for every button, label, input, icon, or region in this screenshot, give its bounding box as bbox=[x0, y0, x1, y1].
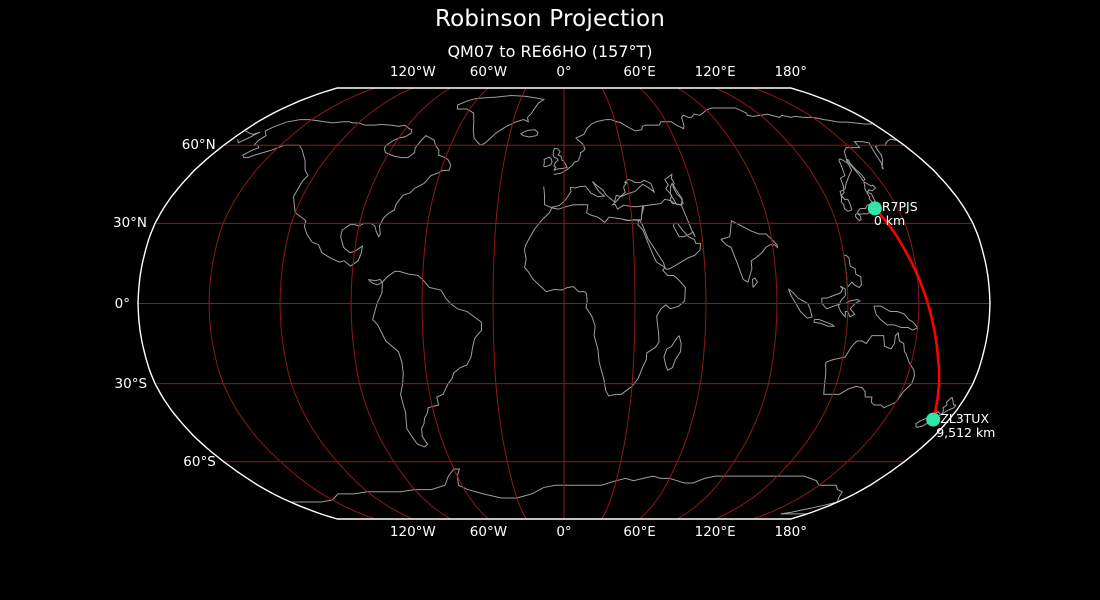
lon-tick-label: 180° bbox=[774, 524, 807, 540]
lon-tick-label: 0° bbox=[556, 524, 571, 540]
coastline-path bbox=[544, 157, 552, 166]
lon-tick-label: 120°E bbox=[695, 64, 736, 80]
station-distance: 0 km bbox=[874, 214, 918, 228]
coastline-path bbox=[874, 306, 918, 330]
coastline-path bbox=[824, 333, 915, 408]
coastline-path bbox=[721, 221, 778, 282]
coastline-path bbox=[864, 182, 876, 191]
coastline-path bbox=[814, 320, 834, 327]
coastline-path bbox=[822, 286, 860, 317]
lon-tick-label: 60°W bbox=[470, 524, 507, 540]
map-svg bbox=[0, 0, 1100, 600]
lon-tick-label: 180° bbox=[774, 64, 807, 80]
coastline-path bbox=[847, 159, 865, 180]
lat-tick-label: 30°N bbox=[0, 215, 147, 231]
coastline-path bbox=[457, 96, 543, 146]
station-distance: 9,512 km bbox=[936, 426, 995, 440]
lat-tick-label: 30°S bbox=[0, 376, 147, 392]
lon-tick-label: 120°E bbox=[695, 524, 736, 540]
lon-tick-label: 0° bbox=[556, 64, 571, 80]
lon-tick-label: 60°W bbox=[470, 64, 507, 80]
coastline-path bbox=[290, 469, 842, 514]
lon-tick-label: 120°W bbox=[390, 524, 436, 540]
coastline-path bbox=[753, 278, 758, 287]
lon-tick-label: 120°W bbox=[390, 64, 436, 80]
station-callsign: ZL3TUX bbox=[940, 412, 995, 426]
coastline-path bbox=[664, 336, 681, 371]
coastline-path bbox=[368, 279, 382, 284]
coastline-path bbox=[521, 130, 538, 137]
coastline-path bbox=[553, 149, 567, 171]
lat-tick-label: 60°N bbox=[0, 137, 216, 153]
coastline-path bbox=[554, 108, 872, 174]
lon-tick-label: 60°E bbox=[623, 64, 655, 80]
station-label: R7PJS0 km bbox=[882, 200, 918, 228]
coastline-path bbox=[373, 271, 482, 446]
station-label: ZL3TUX9,512 km bbox=[940, 412, 995, 440]
map-canvas[interactable] bbox=[0, 0, 1100, 600]
map-figure: Robinson Projection QM07 to RE66HO (157°… bbox=[0, 0, 1100, 600]
lon-tick-label: 60°E bbox=[623, 524, 655, 540]
graticule bbox=[138, 88, 990, 519]
lat-tick-label: 0° bbox=[0, 296, 130, 312]
lat-tick-label: 60°S bbox=[0, 454, 216, 470]
coastline-path bbox=[856, 214, 862, 221]
coastline-path bbox=[243, 120, 451, 267]
station-callsign: R7PJS bbox=[882, 200, 918, 214]
